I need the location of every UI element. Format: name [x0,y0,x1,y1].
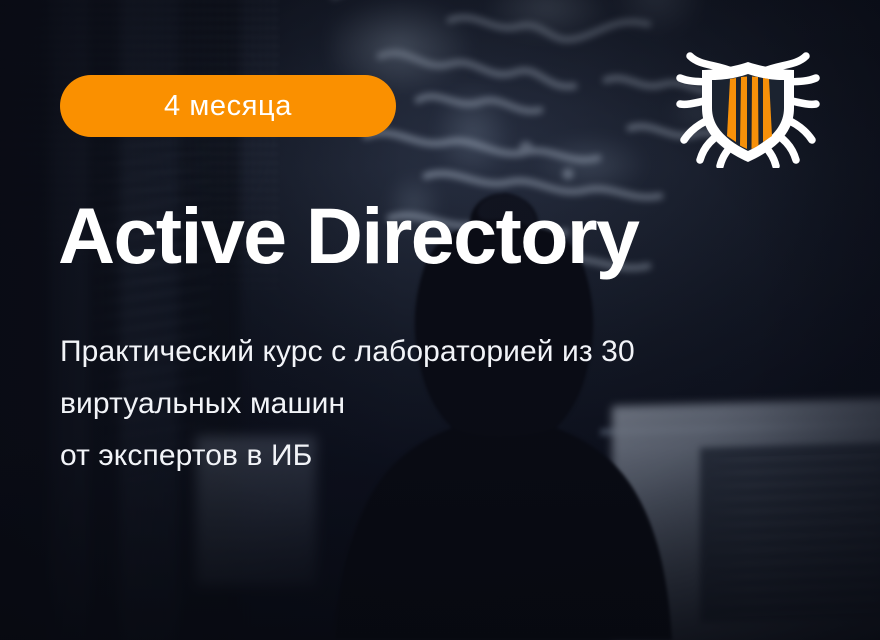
subtitle: Практический курс с лабораторией из 30 в… [60,326,830,482]
duration-badge: 4 месяца [60,75,396,137]
subtitle-line-1: Практический курс с лабораторией из 30 [60,326,830,378]
promo-banner: 4 месяца [0,0,880,640]
subtitle-line-3: от экспертов в ИБ [60,430,830,482]
subtitle-line-2: виртуальных машин [60,378,830,430]
page-title: Active Directory [58,196,638,275]
duration-badge-label: 4 месяца [164,92,292,121]
bug-shield-logo-icon [668,48,828,168]
